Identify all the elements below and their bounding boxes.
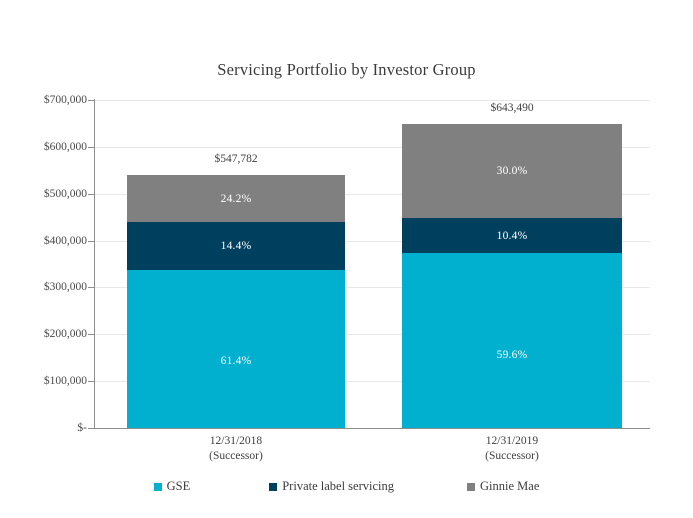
x-axis-label-2018: 12/31/2018 (Successor) [127,434,345,464]
bar-segment-ginnie-mae-2019[interactable]: 30.0% [402,124,622,218]
y-axis-line [94,99,95,429]
segment-label-private-label-2018: 14.4% [221,240,252,252]
y-tick-mark-300000 [88,287,95,288]
segment-label-private-label-2019: 10.4% [497,230,528,242]
y-axis-labels: $700,000 $600,000 $500,000 $400,000 $300… [0,0,87,518]
chart-container: Servicing Portfolio by Investor Group 24… [0,0,693,518]
legend-label-private-label-servicing: Private label servicing [282,479,394,494]
segment-label-ginnie-mae-2018: 24.2% [221,193,252,205]
segment-label-ginnie-mae-2019: 30.0% [497,165,528,177]
legend-item-private-label-servicing[interactable]: Private label servicing [269,479,394,494]
y-tick-mark-200000 [88,334,95,335]
y-tick-mark-0 [88,428,95,429]
gridline-700000 [95,100,650,101]
legend-swatch-private-label-servicing-icon [269,483,277,491]
y-axis-label-600000: $600,000 [3,141,87,153]
y-axis-label-100000: $100,000 [3,375,87,387]
legend-label-ginnie-mae: Ginnie Mae [480,479,539,494]
bar-2018[interactable]: 24.2% 14.4% 61.4% [127,175,345,428]
y-axis-label-200000: $200,000 [3,328,87,340]
chart-legend: GSE Private label servicing Ginnie Mae [0,479,693,494]
x-axis-label-2018-date: 12/31/2018 [127,434,345,449]
x-axis-label-2019-date: 12/31/2019 [402,434,622,449]
legend-swatch-ginnie-mae-icon [467,483,475,491]
x-axis-label-2019-qualifier: (Successor) [402,449,622,464]
legend-item-ginnie-mae[interactable]: Ginnie Mae [467,479,539,494]
y-tick-mark-700000 [88,100,95,101]
y-axis-label-700000: $700,000 [3,94,87,106]
bar-segment-gse-2018[interactable]: 61.4% [127,270,345,428]
y-tick-mark-500000 [88,194,95,195]
chart-title: Servicing Portfolio by Investor Group [0,60,693,80]
bar-2019[interactable]: 30.0% 10.4% 59.6% [402,124,622,428]
x-axis-label-2019: 12/31/2019 (Successor) [402,434,622,464]
y-axis-label-400000: $400,000 [3,235,87,247]
segment-label-gse-2018: 61.4% [221,355,252,367]
y-axis-label-300000: $300,000 [3,281,87,293]
bar-segment-gse-2019[interactable]: 59.6% [402,253,622,428]
legend-swatch-gse-icon [154,483,162,491]
segment-label-gse-2019: 59.6% [497,349,528,361]
bar-segment-private-label-2019[interactable]: 10.4% [402,218,622,253]
bar-segment-private-label-2018[interactable]: 14.4% [127,222,345,270]
bar-segment-ginnie-mae-2018[interactable]: 24.2% [127,175,345,222]
y-tick-mark-100000 [88,381,95,382]
y-tick-mark-400000 [88,241,95,242]
y-tick-mark-600000 [88,147,95,148]
x-axis-label-2018-qualifier: (Successor) [127,449,345,464]
bar-total-label-2019: $643,490 [402,102,622,114]
x-axis-line [94,428,650,429]
y-axis-label-500000: $500,000 [3,188,87,200]
plot-area: 24.2% 14.4% 61.4% 30.0% 10.4% 59.6% [95,100,650,428]
bar-total-label-2018: $547,782 [127,153,345,165]
legend-item-gse[interactable]: GSE [154,479,191,494]
y-axis-label-0: $- [3,422,87,434]
legend-label-gse: GSE [167,479,191,494]
